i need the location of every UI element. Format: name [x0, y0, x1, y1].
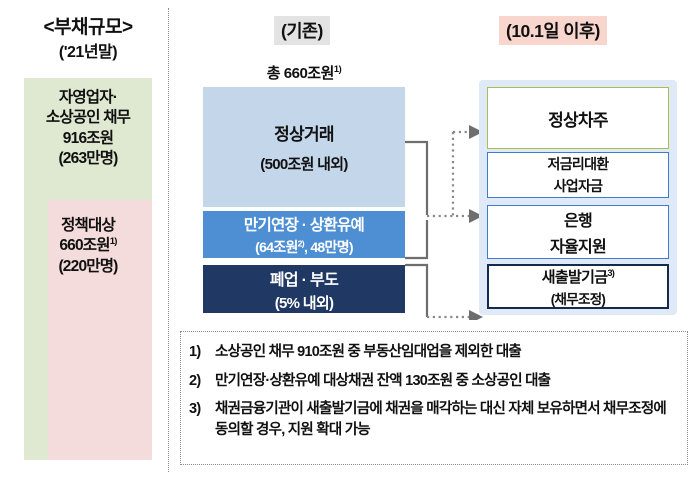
box-maturity-extension-title: 만기연장 · 상환유예 [244, 213, 364, 235]
box-bank-voluntary-support-line-2: 자율지원 [550, 233, 606, 257]
box-maturity-extension-amount: (64조원2), 48만명) [255, 237, 353, 257]
box-normal-borrower-title: 정상차주 [548, 106, 608, 131]
self-employed-amount: 916조원 [18, 129, 158, 149]
vertical-dotted-divider [168, 8, 169, 472]
policy-target-footnote-marker: 1) [110, 236, 117, 247]
policy-target-amount-value: 660조원 [59, 237, 109, 254]
self-employed-line-2: 소상공인 채무 [18, 108, 158, 128]
policy-target-amount: 660조원1) [20, 236, 156, 256]
box-low-rate-refinance-line-1: 저금리대환 [548, 154, 609, 174]
self-employed-count: (263만명) [18, 149, 158, 169]
box-new-start-fund-subtitle: (채무조정) [551, 288, 605, 308]
box-new-start-fund-title-text: 새출발기금 [542, 269, 608, 286]
box-bank-voluntary-support: 은행 자율지원 [487, 205, 669, 259]
box-new-start-fund-title: 새출발기금3) [542, 266, 614, 287]
policy-target-label: 정책대상 660조원1) (220만명) [20, 216, 156, 277]
box-closure-default: 폐업 · 부도 (5% 내외) [203, 265, 405, 313]
box-low-rate-refinance: 저금리대환 사업자금 [487, 152, 669, 198]
box-normal-transaction-amount: (500조원 내외) [260, 153, 347, 174]
footnote-item: 3) 채권금융기관이 새출발기금에 채권을 매각하는 대신 자체 보유하면서 채… [189, 399, 681, 440]
box-maturity-extension-amount-a: (64조원 [255, 239, 298, 255]
self-employed-debt-label: 자영업자· 소상공인 채무 916조원 (263만명) [18, 88, 158, 170]
box-new-start-fund: 새출발기금3) (채무조정) [487, 264, 669, 309]
total-amount-footnote-marker: 1) [334, 64, 341, 74]
box-maturity-extension-amount-b: , 48만명) [304, 239, 353, 255]
bracket-maturity-extension [405, 220, 427, 258]
footnote-text: 만기연장·상환유예 대상채권 잔액 130조원 중 소상공인 대출 [215, 371, 681, 392]
footnote-number: 1) [189, 342, 215, 363]
bracket-closure-default [405, 265, 427, 317]
footnote-text: 채권금융기관이 새출발기금에 채권을 매각하는 대신 자체 보유하면서 채무조정… [215, 399, 681, 440]
debt-scale-subtitle: ('21년말) [8, 38, 168, 62]
left-column: <부채규모> ('21년말) 자영업자· 소상공인 채무 916조원 (263만… [0, 0, 176, 480]
box-closure-default-title: 폐업 · 부도 [270, 266, 338, 290]
diagram-root: <부채규모> ('21년말) 자영업자· 소상공인 채무 916조원 (263만… [0, 0, 700, 480]
box-low-rate-refinance-line-2: 사업자금 [554, 176, 603, 196]
box-normal-transaction: 정상거래 (500조원 내외) [203, 87, 405, 207]
debt-scale-title: <부채규모> [8, 12, 168, 39]
box-normal-borrower: 정상차주 [487, 87, 669, 149]
self-employed-line-1: 자영업자· [18, 88, 158, 108]
box-normal-transaction-title: 정상거래 [274, 120, 334, 145]
box-maturity-extension: 만기연장 · 상환유예 (64조원2), 48만명) [203, 211, 405, 258]
box-new-start-fund-footnote-marker: 3) [607, 268, 614, 278]
footnotes-box: 1) 소상공인 채무 910조원 중 부동산임대업을 제외한 대출 2) 만기연… [180, 331, 688, 465]
header-after: (10.1일 이후) [499, 16, 607, 45]
footnote-item: 1) 소상공인 채무 910조원 중 부동산임대업을 제외한 대출 [189, 342, 681, 363]
header-before: (기존) [274, 16, 330, 45]
footnote-item: 2) 만기연장·상환유예 대상채권 잔액 130조원 중 소상공인 대출 [189, 371, 681, 392]
box-bank-voluntary-support-line-1: 은행 [564, 207, 592, 231]
policy-target-line-1: 정책대상 [20, 216, 156, 236]
footnote-number: 3) [189, 399, 215, 440]
footnote-text: 소상공인 채무 910조원 중 부동산임대업을 제외한 대출 [215, 342, 681, 363]
bracket-normal-transaction [405, 142, 427, 215]
connector-arrows [405, 80, 485, 320]
total-amount-value: 총 660조원 [267, 65, 334, 82]
total-amount-label: 총 660조원1) [203, 62, 405, 83]
policy-target-count: (220만명) [20, 257, 156, 277]
footnote-number: 2) [189, 371, 215, 392]
box-closure-default-ratio: (5% 내외) [275, 292, 334, 313]
